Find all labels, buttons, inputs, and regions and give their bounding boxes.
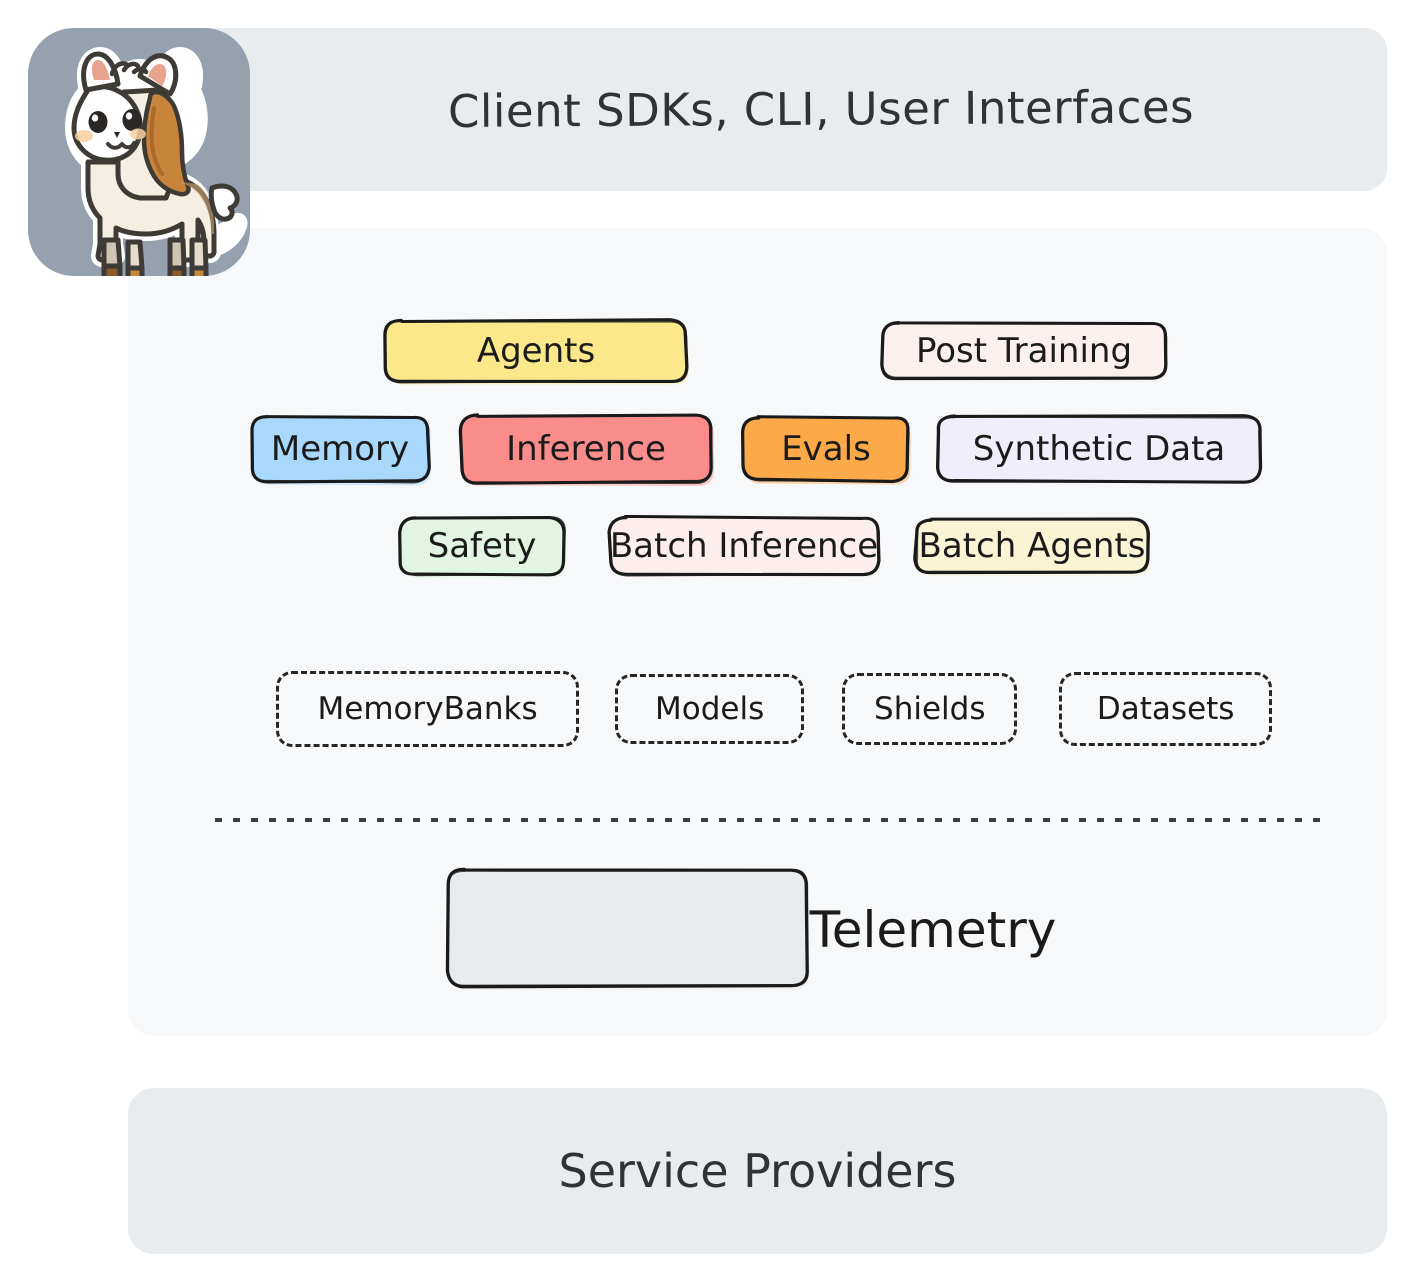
resource-box-datasets[interactable]: Datasets	[1059, 672, 1272, 746]
api-box-label: Inference	[506, 432, 666, 466]
sketch-frame	[444, 866, 810, 994]
resource-box-memorybanks[interactable]: MemoryBanks	[276, 671, 579, 747]
row-resources: MemoryBanks Models Shields Datasets	[248, 668, 1272, 750]
api-box-label: Batch Inference	[610, 529, 878, 563]
api-box-label: Post Training	[916, 334, 1132, 368]
api-box-post-training[interactable]: Post Training	[878, 320, 1170, 382]
resource-box-label: Shields	[874, 694, 985, 725]
resource-box-label: Datasets	[1097, 694, 1235, 725]
dotted-divider	[215, 818, 1323, 822]
api-box-synthetic-data[interactable]: Synthetic Data	[934, 413, 1264, 485]
api-box-label: Memory	[271, 432, 409, 466]
api-box-label: Batch Agents	[919, 529, 1146, 563]
api-box-batch-agents[interactable]: Batch Agents	[912, 516, 1152, 576]
architecture-diagram: Client SDKs, CLI, User Interfaces Agents…	[0, 0, 1410, 1268]
api-box-agents[interactable]: Agents	[382, 317, 690, 385]
resource-box-shields[interactable]: Shields	[842, 673, 1017, 745]
resource-box-label: Models	[655, 694, 764, 725]
header-title: Client SDKs, CLI, User Interfaces	[150, 24, 1388, 195]
api-box-label: Evals	[781, 432, 871, 466]
api-box-label: Safety	[428, 529, 537, 563]
resource-box-models[interactable]: Models	[615, 674, 804, 744]
api-box-label: Synthetic Data	[973, 432, 1226, 466]
api-box-label: Agents	[477, 334, 595, 368]
row-core-apis: Memory Inference Evals Synthetic Data	[248, 408, 1272, 490]
telemetry-label: Telemetry	[810, 905, 1057, 955]
api-box-memory[interactable]: Memory	[248, 413, 432, 485]
row-agents: Agents Post Training	[248, 313, 1272, 388]
api-box-safety[interactable]: Safety	[396, 514, 568, 578]
telemetry-box[interactable]: Telemetry	[567, 868, 933, 992]
row-batch-apis: Safety Batch Inference Batch Agents	[248, 510, 1272, 582]
resource-box-label: MemoryBanks	[318, 694, 538, 725]
api-box-inference[interactable]: Inference	[457, 412, 715, 486]
api-box-evals[interactable]: Evals	[740, 414, 912, 484]
api-box-batch-inference[interactable]: Batch Inference	[606, 514, 882, 578]
footer-title: Service Providers	[128, 1088, 1387, 1254]
